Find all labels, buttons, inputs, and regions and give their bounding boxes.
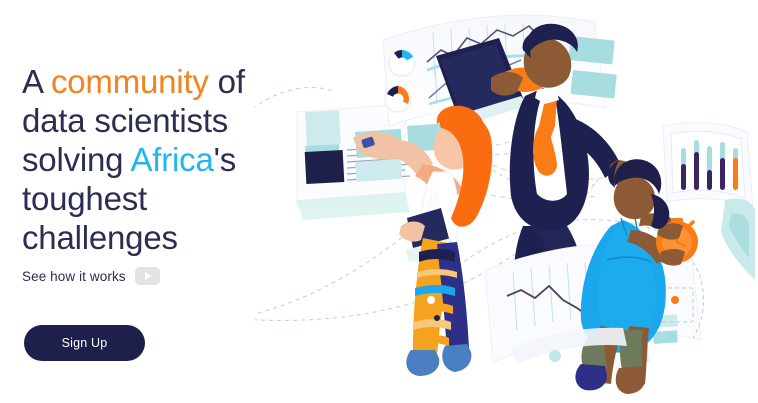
headline-text: 's xyxy=(214,141,236,178)
headline-text: A xyxy=(22,63,51,100)
headline-line-1: A community of xyxy=(22,63,245,100)
play-icon[interactable] xyxy=(135,267,160,285)
headline-line-4: toughest xyxy=(22,180,147,217)
headline-line-2: data scientists xyxy=(22,102,228,139)
headline-accent-africa: Africa xyxy=(130,141,213,178)
headline-accent-community: community xyxy=(51,63,209,100)
headline-text: solving xyxy=(22,141,130,178)
see-how-it-works-label: See how it works xyxy=(22,269,126,284)
page-title: A community of data scientists solving A… xyxy=(22,62,322,257)
hero-copy: A community of data scientists solving A… xyxy=(22,62,322,257)
data-scientists-illustration xyxy=(255,0,758,403)
headline-line-5: challenges xyxy=(22,219,178,256)
donut-chart-orange xyxy=(385,86,411,112)
headline-line-3: solving Africa's xyxy=(22,141,236,178)
see-how-it-works-link[interactable]: See how it works xyxy=(22,267,160,285)
headline-text: of xyxy=(209,63,245,100)
donut-chart-cyan xyxy=(389,50,415,76)
hero-section: A community of data scientists solving A… xyxy=(0,0,758,403)
sign-up-button[interactable]: Sign Up xyxy=(24,325,145,361)
play-triangle xyxy=(145,272,152,280)
